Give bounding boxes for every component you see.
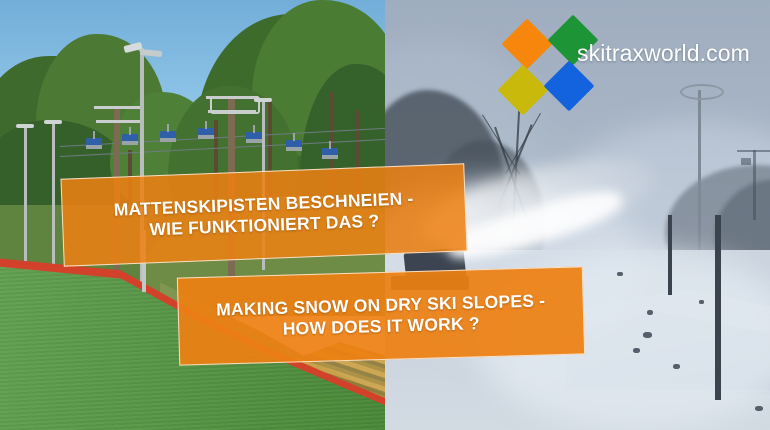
lift-crossarm	[94, 106, 142, 109]
lift-pylon	[753, 150, 756, 220]
chairlift-chair	[322, 148, 338, 157]
chairlift-chair	[246, 132, 262, 141]
headline-banner-english: MAKING SNOW ON DRY SKI SLOPES - HOW DOES…	[177, 266, 585, 365]
lift-pylon-head	[210, 96, 260, 114]
floodlight-mast	[24, 126, 27, 276]
floodlight-head	[254, 98, 272, 102]
lift-crossarm	[96, 120, 140, 123]
snow-debris	[755, 406, 763, 411]
chairlift-chair	[86, 138, 102, 147]
chairlift-chair	[286, 140, 302, 149]
skitraxworld-logo[interactable]: skitraxworld.com	[505, 20, 760, 115]
floodlight-head	[16, 124, 34, 128]
chairlift-chair	[198, 128, 214, 137]
chairlift-chair	[160, 131, 176, 140]
snow-debris	[647, 310, 653, 315]
chairlift-chair	[122, 134, 138, 143]
slope-pole	[668, 215, 672, 295]
floodlight-mast	[52, 122, 55, 272]
floodlight-head	[44, 120, 62, 124]
lift-crossarm	[737, 150, 770, 152]
chairlift-chair	[741, 158, 751, 165]
diamond-blue-icon	[544, 61, 595, 112]
slope-pole	[715, 215, 721, 400]
snow-debris	[699, 300, 704, 304]
headline-banner-german: MATTENSKIPISTEN BESCHNEIEN - WIE FUNKTIO…	[60, 163, 467, 266]
diamond-orange-icon	[502, 19, 553, 70]
logo-wordmark: skitraxworld.com	[577, 40, 750, 67]
diamond-gold-icon	[498, 65, 549, 116]
promo-image: skitraxworld.com MATTENSKIPISTEN BESCHNE…	[0, 0, 770, 430]
snow-debris	[673, 364, 680, 369]
headline-english-line2: HOW DOES IT WORK ?	[282, 313, 480, 338]
snow-debris	[643, 332, 652, 338]
snow-debris	[617, 272, 623, 276]
snow-debris	[633, 348, 640, 353]
